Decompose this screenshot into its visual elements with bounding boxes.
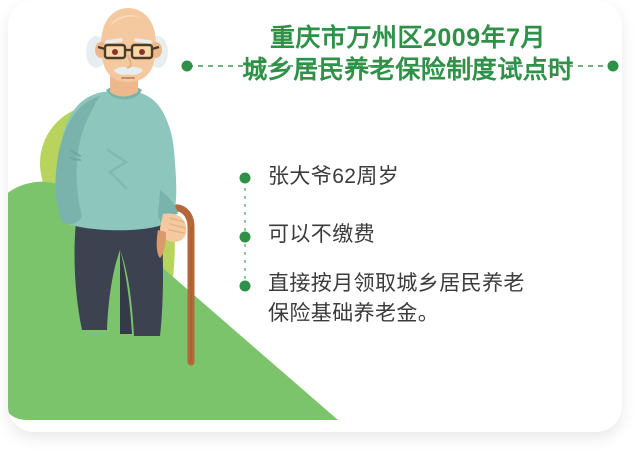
heading-dashed-divider-icon [180,60,620,72]
heading-line-1: 重庆市万州区2009年7月 [194,22,622,54]
heading-block: 重庆市万州区2009年7月 城乡居民养老保险制度试点时 [178,22,622,86]
list-item-text-line2: 保险基础养老金。 [268,299,622,329]
teal-sweater [55,86,178,231]
list-item: 张大爷62周岁 [236,162,622,192]
info-card: 重庆市万州区2009年7月 城乡居民养老保险制度试点时 张大爷62周岁 可以不缴… [8,0,622,432]
list-item-text: 直接按月领取城乡居民养老 [268,269,622,299]
list-item-text: 张大爷62周岁 [268,162,622,192]
list-item: 可以不缴费 [236,220,622,250]
list-item: 直接按月领取城乡居民养老 保险基础养老金。 [236,269,622,329]
screenshot-root: 重庆市万州区2009年7月 城乡居民养老保险制度试点时 张大爷62周岁 可以不缴… [0,0,640,455]
list-item-text: 可以不缴费 [268,220,622,250]
divider-dot-right [608,61,619,72]
divider-dot-left [182,61,193,72]
bullet-list: 张大爷62周岁 可以不缴费 直接按月领取城乡居民养老 保险基础养老金。 [236,158,622,329]
head [86,8,168,82]
